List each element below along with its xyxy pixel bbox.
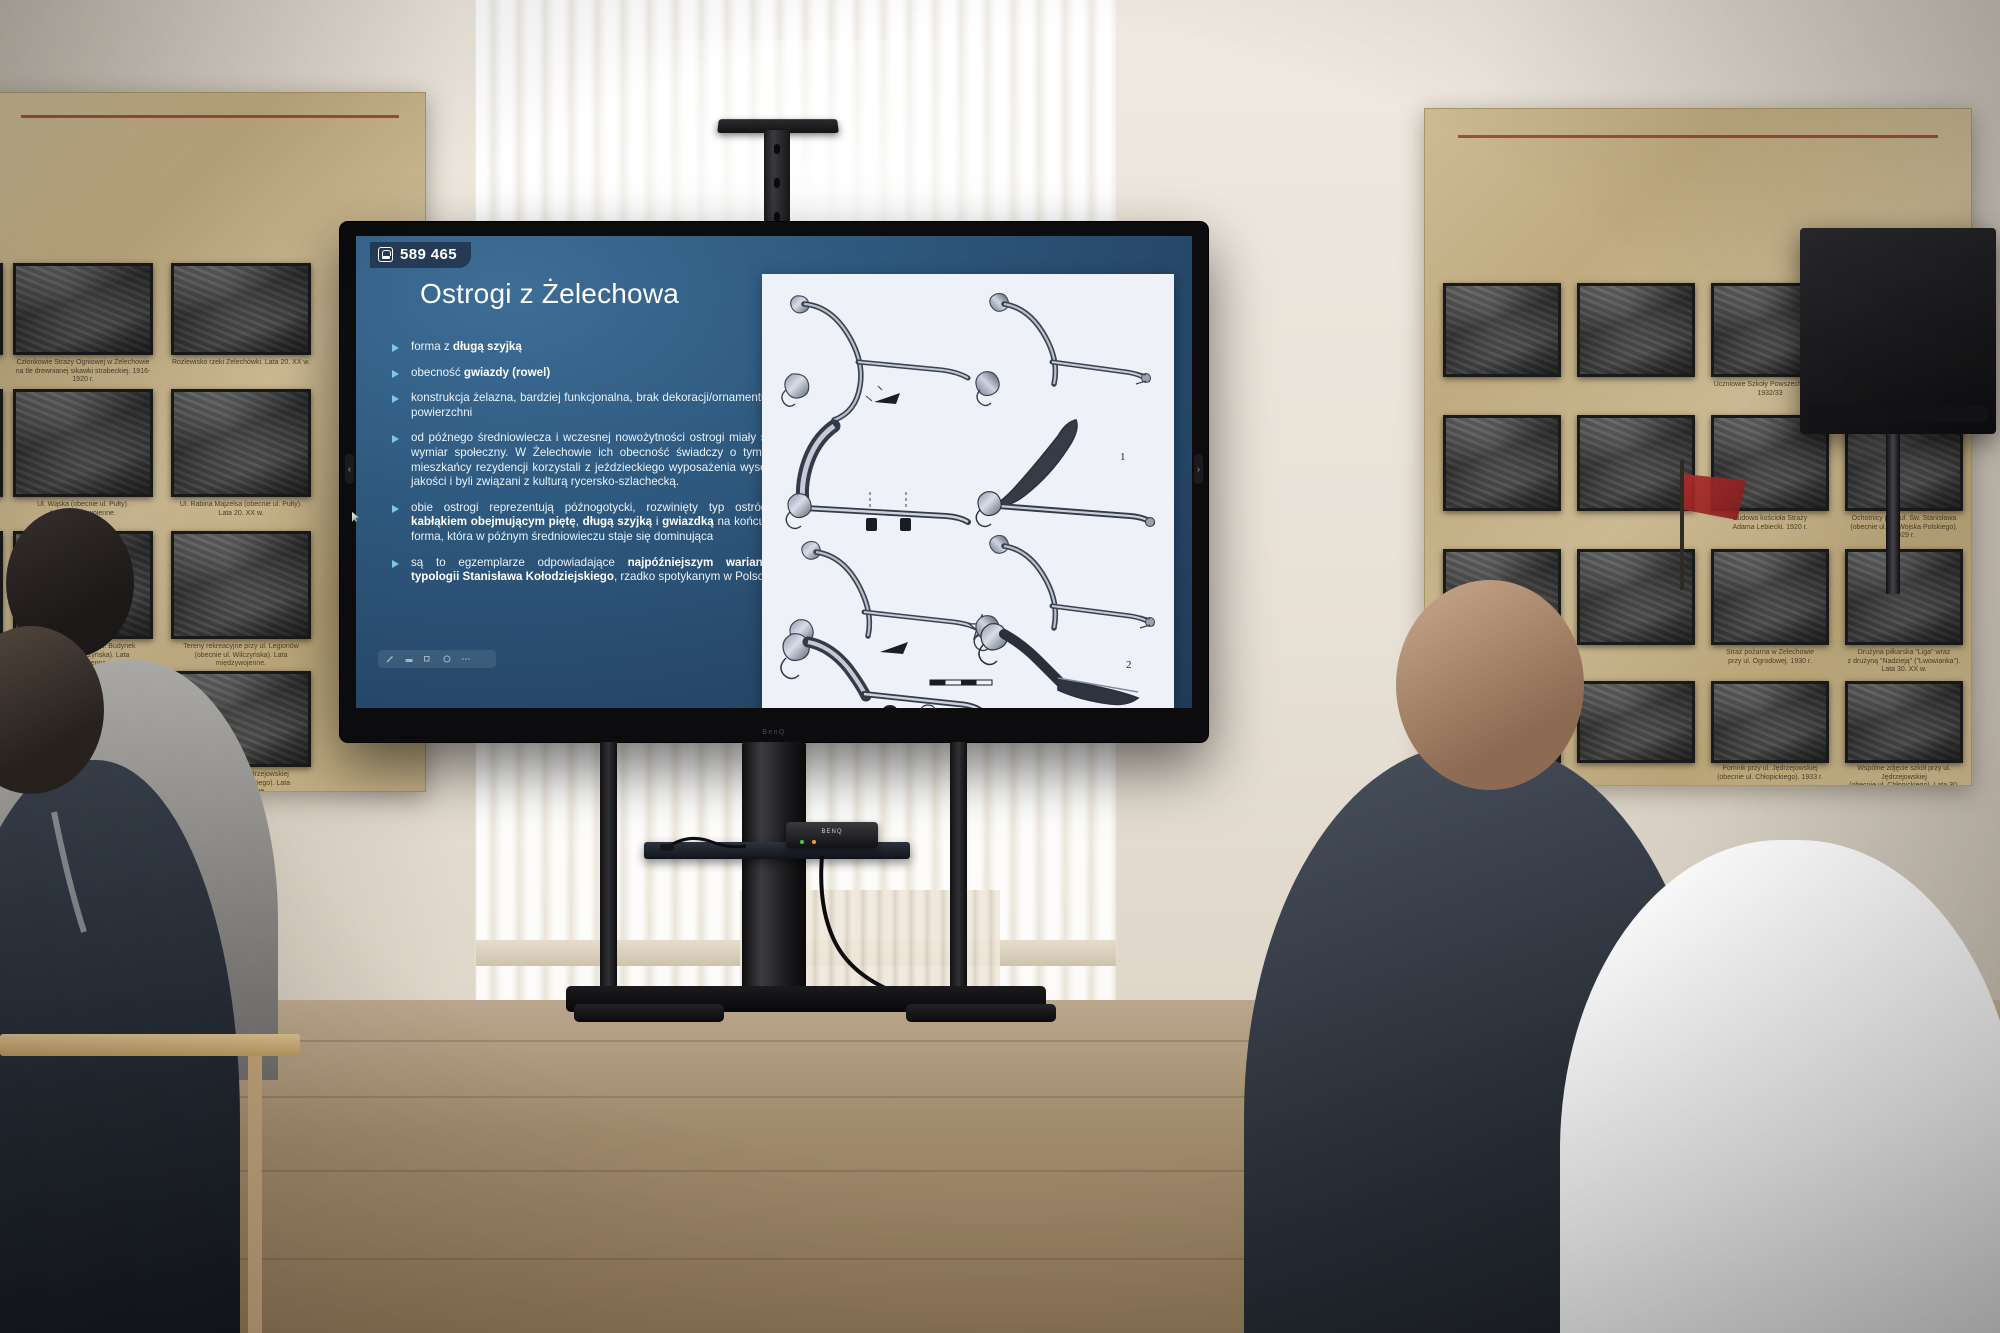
media-player-box[interactable]: BENQ — [786, 822, 878, 848]
board-caption: Tereny rekreacyjne przy ul. Legionów (ob… — [171, 643, 311, 669]
led-indicator — [800, 840, 804, 844]
interactive-display[interactable]: 589 465 Ostrogi z Żelechowa forma z dług… — [340, 222, 1208, 742]
spur-drawings-plate: 1 — [762, 274, 1174, 708]
bullet-marker-icon — [392, 560, 399, 568]
slide-bullet-text: obie ostrogi reprezentują późnogotycki, … — [411, 501, 784, 545]
board-photo — [1443, 283, 1561, 377]
bullet-emphasis: długą szyjką — [453, 340, 522, 353]
display-screen[interactable]: 589 465 Ostrogi z Żelechowa forma z dług… — [356, 236, 1192, 708]
display-brand-logo: BenQ — [762, 729, 786, 736]
stand-foot-left — [574, 1004, 724, 1022]
board-photo — [1845, 549, 1963, 645]
display-next-button[interactable]: › — [1194, 454, 1203, 484]
board-caption: Członkowie Straży Ogniowej w Żelechowie … — [13, 359, 153, 385]
slide-bullet: konstrukcja żelazna, bardziej funkcjonal… — [392, 391, 784, 420]
board-photo — [171, 389, 311, 497]
board-photo — [171, 263, 311, 355]
bullet-marker-icon — [392, 505, 399, 513]
annotation-toolbar[interactable] — [378, 650, 496, 668]
slide-bullet: są to egzemplarze odpowiadające najpóźni… — [392, 556, 784, 585]
board-caption: Ochotnicy przy ul. Św. Stanisława (obecn… — [1845, 515, 1963, 541]
spur-illustrations-svg: 1 — [762, 274, 1174, 708]
board-photo — [0, 263, 3, 355]
desk-surface — [0, 1034, 300, 1056]
board-photo — [1577, 549, 1695, 645]
board-photo — [0, 531, 3, 639]
stand-column — [742, 742, 806, 1004]
display-mount-arm — [764, 130, 790, 235]
bullet-span: , rzadko spotykanym w Polsce. — [614, 570, 773, 583]
id-card-icon — [378, 247, 393, 262]
bullet-marker-icon — [392, 435, 399, 443]
board-photo — [13, 389, 153, 497]
board-photo — [1845, 681, 1963, 763]
palette-icon[interactable] — [442, 654, 452, 664]
flag-pole — [1680, 460, 1684, 590]
board-photo — [171, 531, 311, 639]
figure-label-2: 2 — [1126, 659, 1132, 671]
bullet-span: od późnego średniowiecza i wczesnej nowo… — [411, 431, 784, 488]
remote-cable — [660, 824, 780, 864]
board-caption: Rozlewisko rzeki Żelechówki. Lata 20. XX… — [171, 359, 311, 368]
slide-bullet: od późnego średniowiecza i wczesnej nowo… — [392, 431, 784, 489]
bullet-emphasis: długą szyjką — [583, 515, 652, 528]
bullet-emphasis: gwiazdką — [662, 515, 714, 528]
bullet-span: i — [652, 515, 662, 528]
media-player-label: BENQ — [821, 829, 842, 835]
slide-badge: 589 465 — [370, 242, 471, 268]
bullet-span: forma z — [411, 340, 453, 353]
audience-head-right — [1396, 580, 1584, 790]
bullet-marker-icon — [392, 344, 399, 352]
bullet-emphasis: gwiazdy (rowel) — [464, 366, 550, 379]
slide-bullet-text: obecność gwiazdy (rowel) — [411, 366, 784, 381]
bullet-marker-icon — [392, 370, 399, 378]
bullet-span: są to egzemplarze odpowiadające — [411, 556, 628, 569]
slide-bullet: obie ostrogi reprezentują późnogotycki, … — [392, 501, 784, 545]
bullet-marker-icon — [392, 395, 399, 403]
board-caption: Wspólne zdjęcie szkół przy ul. Jędrzejow… — [1845, 765, 1963, 786]
pen-icon[interactable] — [385, 654, 395, 664]
slide-bullet-text: konstrukcja żelazna, bardziej funkcjonal… — [411, 391, 784, 420]
board-caption: Straż pożarna w Żelechowie przy ul. Ogro… — [1711, 649, 1829, 666]
slide-bullet: forma z długą szyjką — [392, 340, 784, 355]
board-photo — [1577, 681, 1695, 763]
slide-bullet-list: forma z długą szyjkąobecność gwiazdy (ro… — [392, 340, 784, 596]
board-photo — [1711, 549, 1829, 645]
bullet-span: konstrukcja żelazna, bardziej funkcjonal… — [411, 391, 784, 419]
slide-bullet-text: od późnego średniowiecza i wczesnej nowo… — [411, 431, 784, 489]
stand-foot-right — [906, 1004, 1056, 1022]
figure-label-1: 1 — [1120, 451, 1126, 463]
speaker-stand-pole — [1886, 434, 1900, 594]
eraser-icon[interactable] — [404, 654, 414, 664]
desk-leg — [248, 1056, 262, 1333]
more-icon[interactable] — [461, 654, 471, 664]
slide-badge-value: 589 465 — [400, 246, 457, 263]
stand-arm-left — [600, 742, 617, 990]
board-photo — [13, 263, 153, 355]
bullet-emphasis: kabłąkiem obejmującym piętę — [411, 515, 576, 528]
display-prev-button[interactable]: ‹ — [345, 454, 354, 484]
led-indicator — [812, 840, 816, 844]
bullet-span: obecność — [411, 366, 464, 379]
board-photo — [1577, 283, 1695, 377]
bullet-span: , — [576, 515, 583, 528]
slide-bullet: obecność gwiazdy (rowel) — [392, 366, 784, 381]
scale-bar — [930, 680, 992, 685]
slide-bullet-text: są to egzemplarze odpowiadające najpóźni… — [411, 556, 784, 585]
board-photo — [1577, 415, 1695, 511]
board-caption: Drużyna piłkarska "Liga" wraz z drużyną … — [1845, 649, 1963, 675]
speaker-port — [1808, 406, 1988, 422]
board-caption: Ul. Rabina Majzelsa (obecnie ul. Pułty).… — [171, 501, 311, 518]
presentation-slide[interactable]: 589 465 Ostrogi z Żelechowa forma z dług… — [356, 236, 1192, 708]
board-caption: Pomnik przy ul. Jędrzejowskiej (obecnie … — [1711, 765, 1829, 782]
slide-title: Ostrogi z Żelechowa — [420, 278, 679, 310]
slide-bullet-text: forma z długą szyjką — [411, 340, 784, 355]
board-photo — [0, 389, 3, 497]
board-photo — [1443, 415, 1561, 511]
bullet-span: obie ostrogi reprezentują późnogotycki, … — [411, 501, 784, 514]
av-speaker — [1800, 228, 1996, 434]
board-photo — [1711, 681, 1829, 763]
room-scene: Członkowie Straży Ogniowej w Żelechowie … — [0, 0, 2000, 1333]
shapes-icon[interactable] — [423, 654, 433, 664]
